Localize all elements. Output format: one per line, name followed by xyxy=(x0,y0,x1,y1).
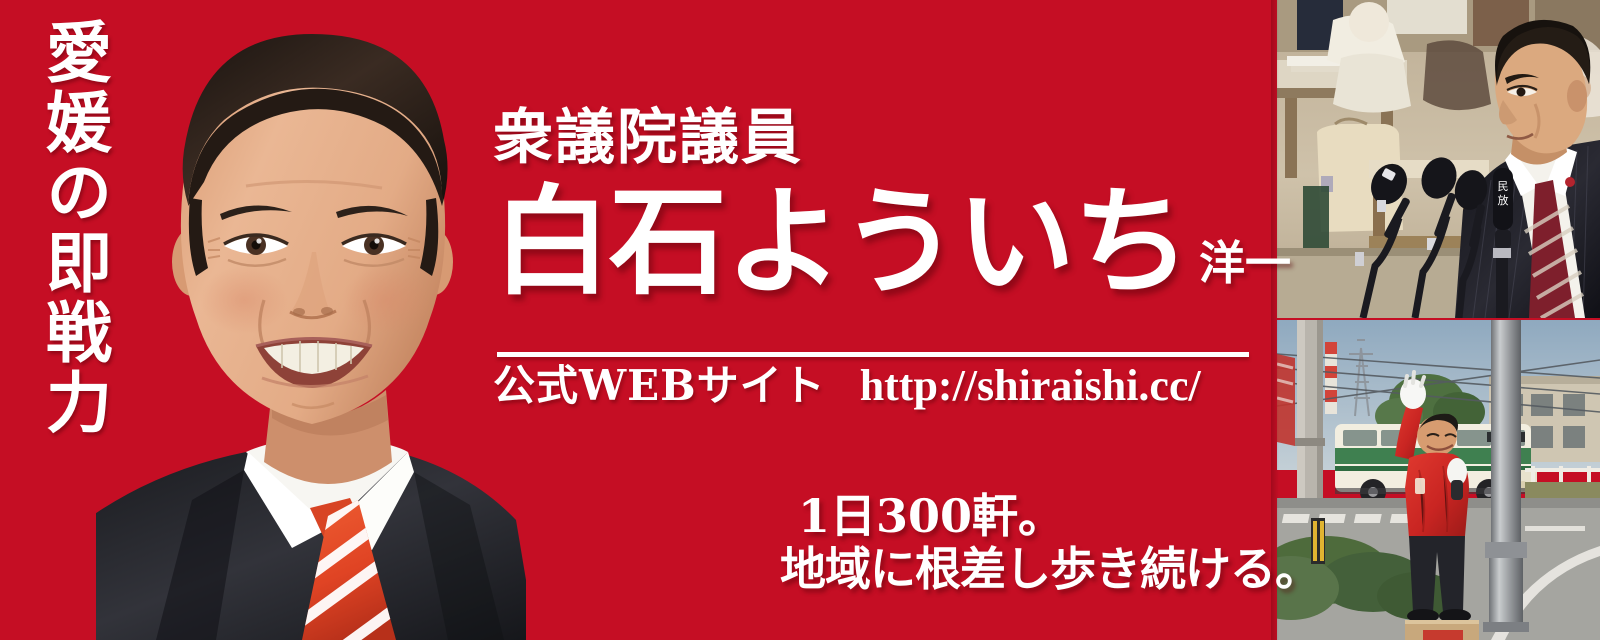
website-url[interactable]: http://shiraishi.cc/ xyxy=(860,364,1201,408)
website-row[interactable]: 公式WEBサイト http://shiraishi.cc/ xyxy=(493,364,1201,408)
tagline-block: 1日300軒。 地域に根差し歩き続ける。 xyxy=(780,490,1250,597)
office-title: 衆議院議員 xyxy=(493,108,1263,168)
campaign-banner: 愛媛の即戦力 xyxy=(0,0,1600,640)
candidate-name-kanji: 洋一 xyxy=(1199,240,1291,286)
vertical-slogan: 愛媛の即戦力 xyxy=(22,18,108,618)
candidate-name-row: 白石よういち 洋一 xyxy=(493,182,1263,302)
headline-block: 衆議院議員 白石よういち 洋一 xyxy=(493,108,1263,302)
candidate-portrait xyxy=(96,0,526,640)
photo-street-campaign xyxy=(1277,320,1600,640)
divider-rule xyxy=(497,352,1249,357)
svg-text:放: 放 xyxy=(1498,193,1509,207)
tagline-line-1: 1日300軒。 xyxy=(780,490,1250,543)
photo-diet-microphones: 民 放 xyxy=(1277,0,1600,318)
svg-text:民: 民 xyxy=(1498,180,1509,193)
photo-column: 民 放 xyxy=(1277,0,1600,640)
candidate-name-kana: 白石よういち xyxy=(493,182,1189,302)
website-label: 公式WEBサイト xyxy=(493,365,826,407)
tagline-line-2: 地域に根差し歩き続ける。 xyxy=(780,543,1250,596)
